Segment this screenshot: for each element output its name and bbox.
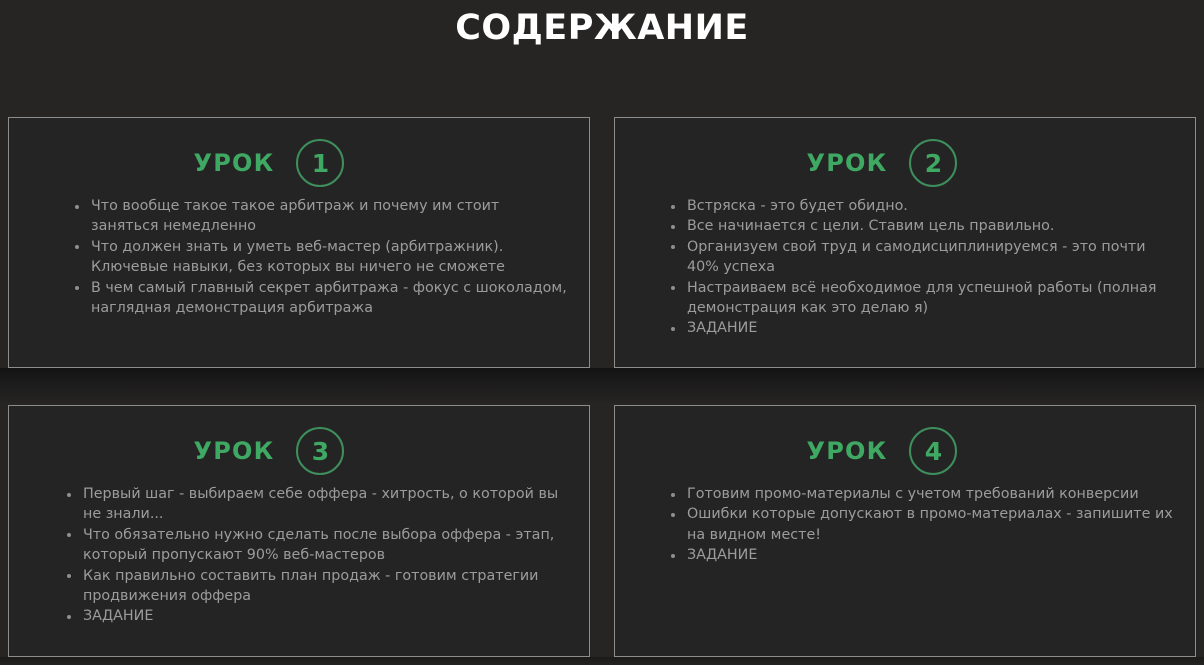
content-page: СОДЕРЖАНИЕ УРОК 1 Что вообще такое такое… xyxy=(0,0,1204,665)
list-item: Что обязательно нужно сделать после выбо… xyxy=(67,525,571,566)
list-item: В чем самый главный секрет арбитража - ф… xyxy=(75,278,571,319)
lesson-label-2: УРОК xyxy=(807,151,888,175)
lesson-card-1[interactable]: УРОК 1 Что вообще такое такое арбитраж и… xyxy=(8,117,590,368)
list-item: Настраиваем всё необходимое для успешной… xyxy=(671,278,1173,319)
lesson-header-4: УРОК 4 xyxy=(615,427,1195,475)
lesson-card-2[interactable]: УРОК 2 Встряска - это будет обидно. Все … xyxy=(614,117,1196,368)
lesson-header-1: УРОК 1 xyxy=(9,139,589,187)
lesson-number-badge-2: 2 xyxy=(909,139,957,187)
list-item: Первый шаг - выбираем себе оффера - хитр… xyxy=(67,484,571,525)
lesson-topic-list-3: Первый шаг - выбираем себе оффера - хитр… xyxy=(9,484,589,627)
lesson-number-badge-4: 4 xyxy=(909,427,957,475)
lesson-card-3[interactable]: УРОК 3 Первый шаг - выбираем себе оффера… xyxy=(8,405,590,657)
page-title: СОДЕРЖАНИЕ xyxy=(455,9,749,48)
lesson-number-badge-1: 1 xyxy=(296,139,344,187)
list-item: Организуем свой труд и самодисциплинируе… xyxy=(671,237,1173,278)
list-item: Готовим промо-материалы с учетом требова… xyxy=(671,484,1173,504)
lesson-label-4: УРОК xyxy=(807,439,888,463)
bottom-edge-shadow xyxy=(0,657,1204,665)
list-item: ЗАДАНИЕ xyxy=(67,606,571,626)
lesson-topic-list-4: Готовим промо-материалы с учетом требова… xyxy=(615,484,1195,566)
lesson-card-4[interactable]: УРОК 4 Готовим промо-материалы с учетом … xyxy=(614,405,1196,657)
lesson-header-3: УРОК 3 xyxy=(9,427,589,475)
list-item: ЗАДАНИЕ xyxy=(671,545,1173,565)
lesson-cards-grid: УРОК 1 Что вообще такое такое арбитраж и… xyxy=(8,117,1196,657)
list-item: Встряска - это будет обидно. xyxy=(671,196,1173,216)
list-item: Как правильно составить план продаж - го… xyxy=(67,566,571,607)
lesson-topic-list-1: Что вообще такое такое арбитраж и почему… xyxy=(9,196,589,318)
list-item: Что должен знать и уметь веб-мастер (арб… xyxy=(75,237,571,278)
lesson-number-badge-3: 3 xyxy=(296,427,344,475)
lesson-label-3: УРОК xyxy=(194,439,275,463)
lesson-header-2: УРОК 2 xyxy=(615,139,1195,187)
list-item: Все начинается с цели. Ставим цель прави… xyxy=(671,216,1173,236)
list-item: Ошибки которые допускают в промо-материа… xyxy=(671,504,1173,545)
page-title-bar: СОДЕРЖАНИЕ xyxy=(0,0,1204,48)
lesson-label-1: УРОК xyxy=(194,151,275,175)
lesson-topic-list-2: Встряска - это будет обидно. Все начинае… xyxy=(615,196,1195,339)
list-item: ЗАДАНИЕ xyxy=(671,318,1173,338)
list-item: Что вообще такое такое арбитраж и почему… xyxy=(75,196,571,237)
